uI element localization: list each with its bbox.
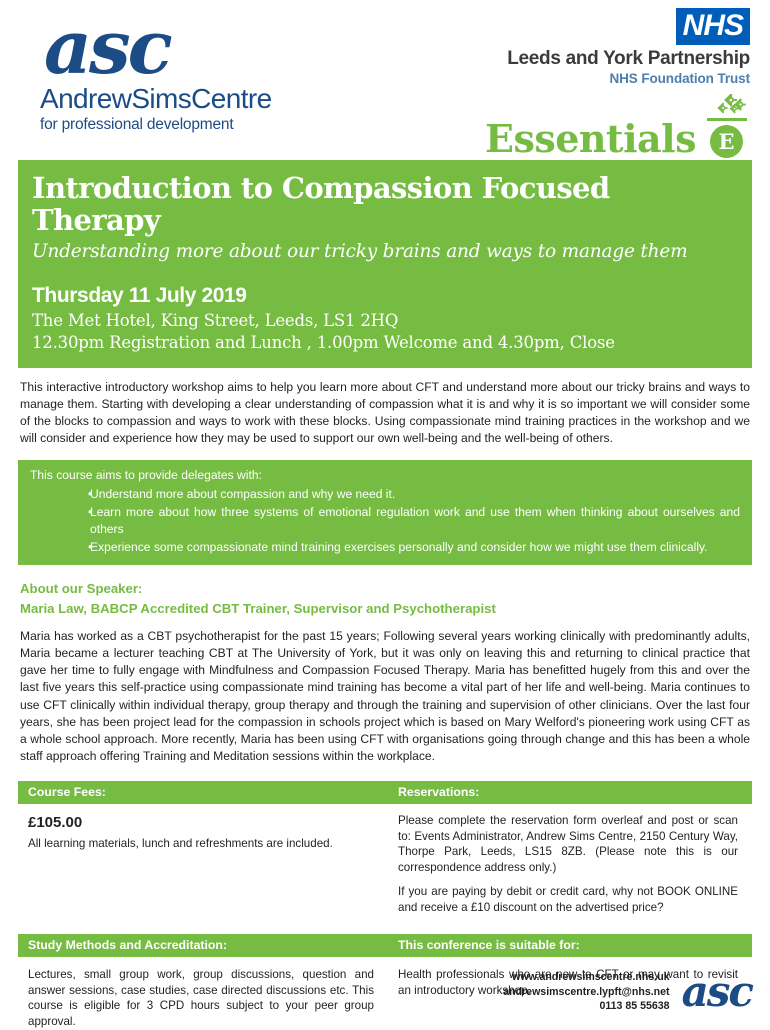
intro-paragraph: This interactive introductory workshop a… [20, 379, 750, 448]
course-title: Introduction to Compassion Focused Thera… [32, 172, 738, 237]
gears-icon [710, 94, 752, 116]
nhs-logo: NHS Leeds and York Partnership NHS Found… [420, 8, 750, 86]
footer-contact-block: www.andrewsimscentre.nhs.uk andrewsimsce… [503, 970, 669, 1014]
nhs-trust-name: Leeds and York Partnership [420, 48, 750, 70]
essentials-badge-bar [707, 118, 747, 121]
course-banner: Introduction to Compassion Focused Thera… [18, 160, 752, 368]
essentials-wordmark: Essentials [485, 120, 696, 158]
asc-footer-logo: asc [682, 975, 752, 1009]
essentials-badge: E [704, 96, 750, 158]
course-subtitle: Understanding more about our tricky brai… [32, 241, 738, 262]
course-aims-list: Understand more about compassion and why… [30, 486, 740, 557]
list-item: Experience some compassionate mind train… [30, 539, 740, 556]
methods-table-header: Study Methods and Accreditation: This co… [18, 934, 752, 957]
page-header: asc AndrewSimsCentre for professional de… [18, 0, 752, 160]
course-fees-cell: £105.00 All learning materials, lunch an… [18, 813, 388, 915]
reservations-paragraph-1: Please complete the reservation form ove… [398, 813, 738, 875]
course-fees-header: Course Fees: [18, 785, 388, 799]
course-times: 12.30pm Registration and Lunch , 1.00pm … [32, 333, 738, 352]
speaker-heading-block: About our Speaker: Maria Law, BABCP Accr… [20, 579, 752, 619]
asc-tagline: for professional development [40, 116, 300, 134]
fees-reservations-table: Course Fees: Reservations: £105.00 All l… [18, 781, 752, 915]
essentials-branding: Essentials [485, 96, 750, 158]
asc-logo: asc AndrewSimsCentre for professional de… [40, 18, 300, 134]
fee-amount: £105.00 [28, 813, 374, 833]
list-item: Understand more about compassion and why… [30, 486, 740, 503]
footer-website[interactable]: www.andrewsimscentre.nhs.uk [503, 970, 669, 985]
speaker-heading: About our Speaker: [20, 579, 752, 599]
reservations-cell: Please complete the reservation form ove… [388, 813, 752, 915]
study-methods-cell: Lectures, small group work, group discus… [18, 967, 388, 1029]
aim-text: Experience some compassionate mind train… [90, 539, 740, 556]
study-methods-header: Study Methods and Accreditation: [18, 938, 388, 952]
page-footer: www.andrewsimscentre.nhs.uk andrewsimsce… [503, 970, 752, 1014]
footer-phone: 0113 85 55638 [503, 999, 669, 1014]
reservations-header: Reservations: [388, 785, 752, 799]
fees-table-header: Course Fees: Reservations: [18, 781, 752, 804]
asc-organisation-name: AndrewSimsCentre [40, 83, 300, 115]
asc-script-mark: asc [44, 18, 300, 79]
course-date: Thursday 11 July 2019 [32, 284, 738, 308]
course-aims-lead: This course aims to provide delegates wi… [30, 467, 740, 484]
flyer-page: asc AndrewSimsCentre for professional de… [0, 0, 770, 1024]
reservations-paragraph-2: If you are paying by debit or credit car… [398, 884, 738, 915]
aim-text: Understand more about compassion and why… [90, 486, 740, 503]
essentials-badge-letter: E [710, 125, 743, 158]
nhs-badge: NHS [676, 8, 750, 45]
fees-table-body: £105.00 All learning materials, lunch an… [18, 804, 752, 915]
course-aims-box: This course aims to provide delegates wi… [18, 460, 752, 566]
course-venue: The Met Hotel, King Street, Leeds, LS1 2… [32, 311, 738, 330]
list-item: Learn more about how three systems of em… [30, 504, 740, 538]
aim-text: Learn more about how three systems of em… [90, 504, 740, 538]
footer-email[interactable]: andrewsimscentre.lypft@nhs.net [503, 985, 669, 1000]
speaker-biography: Maria has worked as a CBT psychotherapis… [20, 628, 750, 765]
suitable-for-header: This conference is suitable for: [388, 938, 752, 952]
speaker-name: Maria Law, BABCP Accredited CBT Trainer,… [20, 599, 752, 619]
nhs-trust-subtitle: NHS Foundation Trust [420, 71, 750, 86]
fee-inclusions: All learning materials, lunch and refres… [28, 836, 374, 852]
